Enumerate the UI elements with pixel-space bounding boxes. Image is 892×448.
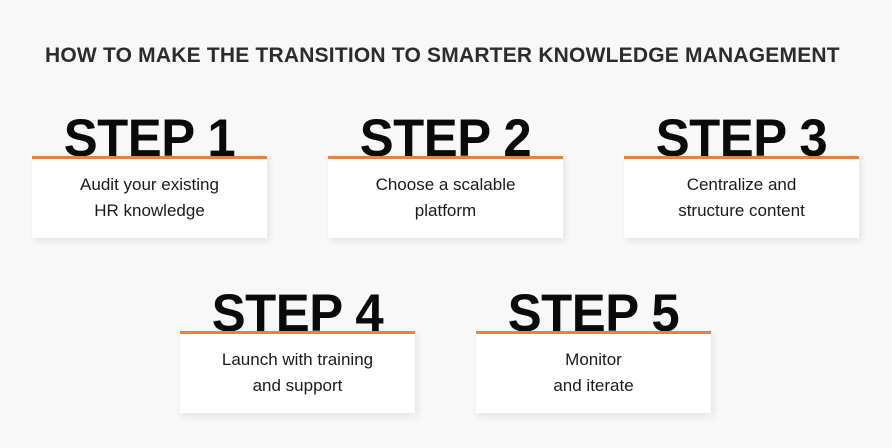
step-card-3: Centralize and structure content (624, 156, 859, 238)
step-card-2: Choose a scalable platform (328, 156, 563, 238)
infographic-canvas: HOW TO MAKE THE TRANSITION TO SMARTER KN… (0, 0, 892, 448)
step-card-text-2: Choose a scalable platform (338, 172, 553, 224)
step-card-4: Launch with training and support (180, 331, 415, 413)
step-card-text-4: Launch with training and support (190, 347, 405, 399)
step-card-text-3: Centralize and structure content (634, 172, 849, 224)
step-card-5: Monitor and iterate (476, 331, 711, 413)
page-title: HOW TO MAKE THE TRANSITION TO SMARTER KN… (45, 44, 840, 68)
step-card-text-1: Audit your existing HR knowledge (42, 172, 257, 224)
step-card-text-5: Monitor and iterate (486, 347, 701, 399)
step-card-1: Audit your existing HR knowledge (32, 156, 267, 238)
